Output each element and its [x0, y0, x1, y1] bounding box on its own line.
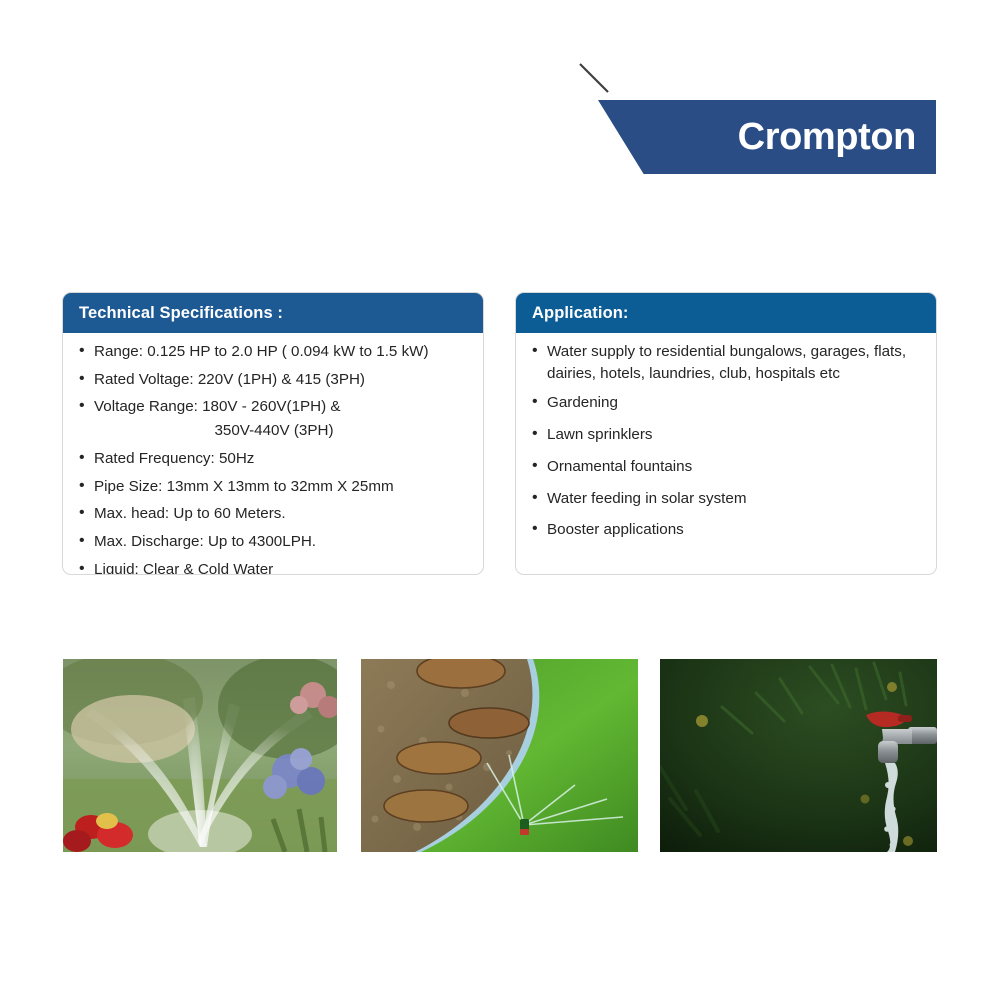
application-item-booster: Booster applications [530, 519, 924, 541]
spec-item-pipe-size: Pipe Size: 13mm X 13mm to 32mm X 25mm [77, 476, 471, 498]
spec-item-max-head: Max. head: Up to 60 Meters. [77, 503, 471, 525]
lawn-sprinkler-pathway-photo [361, 659, 638, 852]
application-title: Application: [532, 304, 629, 323]
technical-specifications-panel: Technical Specifications : Range: 0.125 … [62, 292, 484, 575]
brand-wordmark: Crompton [738, 118, 916, 156]
application-item-gardening: Gardening [530, 392, 924, 414]
technical-specifications-header: Technical Specifications : [63, 293, 483, 333]
garden-fountain-sprinkler-photo [63, 659, 337, 852]
spec-item-voltage-range: Voltage Range: 180V - 260V(1PH) & [77, 396, 471, 418]
application-panel: Application: Water supply to residential… [515, 292, 937, 575]
technical-specifications-body: Range: 0.125 HP to 2.0 HP ( 0.094 kW to … [63, 333, 483, 575]
technical-specifications-list: Range: 0.125 HP to 2.0 HP ( 0.094 kW to … [77, 341, 471, 575]
application-item-water-supply: Water supply to residential bungalows, g… [530, 341, 924, 384]
application-list: Water supply to residential bungalows, g… [530, 341, 924, 541]
application-body: Water supply to residential bungalows, g… [516, 333, 936, 561]
application-item-lawn-sprinklers: Lawn sprinklers [530, 424, 924, 446]
application-header: Application: [516, 293, 936, 333]
spec-item-voltage-range-continued: 350V-440V (3PH) [77, 420, 471, 442]
spec-item-rated-voltage: Rated Voltage: 220V (1PH) & 415 (3PH) [77, 369, 471, 391]
spec-item-rated-frequency: Rated Frequency: 50Hz [77, 448, 471, 470]
application-item-ornamental-fountains: Ornamental fountains [530, 456, 924, 478]
spec-item-max-discharge: Max. Discharge: Up to 4300LPH. [77, 531, 471, 553]
technical-specifications-title: Technical Specifications : [79, 304, 283, 323]
spec-item-liquid: Liquid: Clear & Cold Water [77, 559, 471, 575]
water-tap-photo [660, 659, 937, 852]
spec-item-range: Range: 0.125 HP to 2.0 HP ( 0.094 kW to … [77, 341, 471, 363]
banner-tick-mark [578, 62, 612, 96]
application-item-solar-system: Water feeding in solar system [530, 488, 924, 510]
brand-banner: Crompton [598, 100, 936, 174]
